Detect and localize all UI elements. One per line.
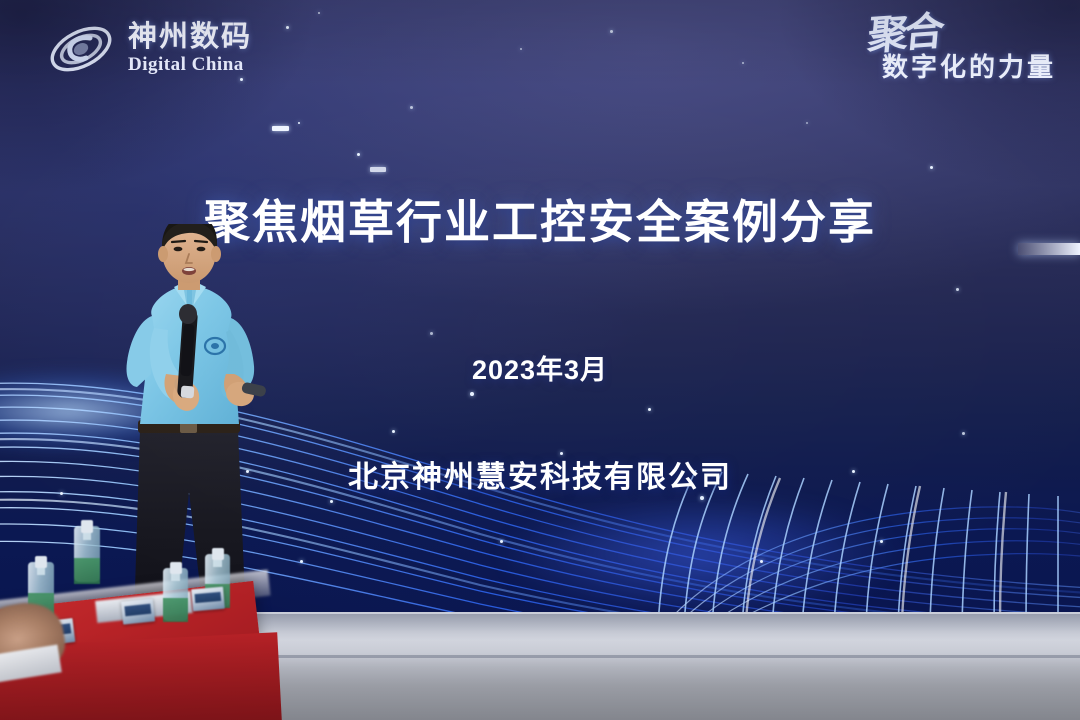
particle <box>500 540 503 543</box>
photo-stage: 神州数码 Digital China 聚合 数字化的力量 聚焦烟草行业工控安全案… <box>0 0 1080 720</box>
water-bottle <box>163 562 188 632</box>
particle <box>880 540 883 543</box>
particle <box>930 166 933 169</box>
particle-dash <box>370 167 386 172</box>
particle <box>318 12 320 14</box>
particle <box>962 432 965 435</box>
particle <box>520 48 522 50</box>
particle <box>298 122 300 124</box>
spiral-swirl-icon <box>44 18 118 80</box>
presenter <box>96 224 282 622</box>
name-card <box>121 598 155 624</box>
water-bottle <box>74 520 100 594</box>
particle <box>470 392 474 396</box>
particle <box>392 430 395 433</box>
particle <box>410 106 413 109</box>
digital-china-logo: 神州数码 Digital China <box>44 18 252 80</box>
particle <box>300 560 303 563</box>
particle <box>956 288 959 291</box>
particle <box>430 332 433 335</box>
particle <box>760 560 763 563</box>
brand-name-chinese: 神州数码 <box>128 22 252 53</box>
name-card <box>191 587 225 612</box>
particle <box>806 122 808 124</box>
particle <box>648 408 651 411</box>
particle <box>330 500 333 503</box>
juhe-event-logo: 聚合 数字化的力量 <box>868 16 1056 84</box>
presenter-figure <box>96 224 282 622</box>
digital-china-text-block: 神州数码 Digital China <box>128 22 252 76</box>
particle <box>286 26 289 29</box>
particle <box>700 496 704 500</box>
stage-floor-shadow <box>240 614 1080 640</box>
particle <box>742 62 744 64</box>
event-calligraphy: 聚合 <box>866 14 942 56</box>
particle <box>610 30 613 33</box>
screen-edge-highlight-bar <box>1018 243 1080 255</box>
brand-name-english: Digital China <box>128 54 252 76</box>
particle <box>357 153 360 156</box>
particle-dash <box>272 126 289 131</box>
